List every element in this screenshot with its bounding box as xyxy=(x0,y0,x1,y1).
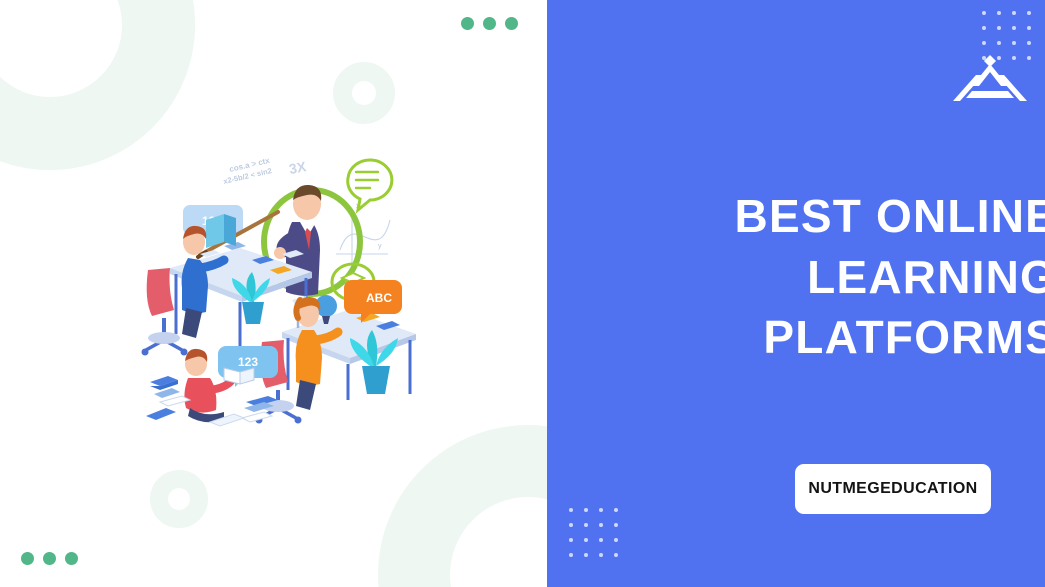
desk-right-with-student xyxy=(256,295,417,424)
decorative-dot-triple-bottom xyxy=(21,552,78,565)
brand-badge[interactable]: NUTMEGEDUCATION xyxy=(795,464,991,514)
decorative-dot-grid-bottom-left xyxy=(569,508,618,557)
decorative-ring-bottom-right xyxy=(378,425,547,587)
headline-line-2: LEARNING xyxy=(547,247,1045,308)
dot xyxy=(483,17,496,30)
right-blue-panel: BEST ONLINE LEARNING PLATFORMS NUTMEGEDU… xyxy=(547,0,1045,587)
brand-badge-label: NUTMEGEDUCATION xyxy=(808,480,977,498)
bubble-green-lines xyxy=(348,160,392,210)
page-title: BEST ONLINE LEARNING PLATFORMS xyxy=(547,186,1045,368)
poster-canvas: cos.a > ctx x2-5b/2 < sin2 3X x y 123 xyxy=(0,0,1045,587)
dot xyxy=(43,552,56,565)
svg-text:y: y xyxy=(378,243,382,250)
decorative-ring-small-top xyxy=(333,62,395,124)
decorative-dot-triple-top xyxy=(461,17,518,30)
headline-line-1: BEST ONLINE xyxy=(547,186,1045,247)
decorative-ring-small-bottom xyxy=(150,470,208,528)
dot xyxy=(65,552,78,565)
svg-text:ABC: ABC xyxy=(366,291,392,305)
svg-text:3X: 3X xyxy=(288,158,308,177)
online-learning-illustration: cos.a > ctx x2-5b/2 < sin2 3X x y 123 xyxy=(140,150,430,435)
headline-line-3: PLATFORMS xyxy=(547,307,1045,368)
left-white-panel: cos.a > ctx x2-5b/2 < sin2 3X x y 123 xyxy=(0,0,547,587)
math-formula-text: cos.a > ctx x2-5b/2 < sin2 3X xyxy=(222,156,308,186)
dot xyxy=(461,17,474,30)
decorative-ring-top-left xyxy=(0,0,195,170)
dot xyxy=(505,17,518,30)
dot xyxy=(21,552,34,565)
graph-sketch: x y xyxy=(336,203,390,268)
svg-text:123: 123 xyxy=(238,355,258,369)
mountain-triangle-logo-icon xyxy=(952,53,1028,103)
